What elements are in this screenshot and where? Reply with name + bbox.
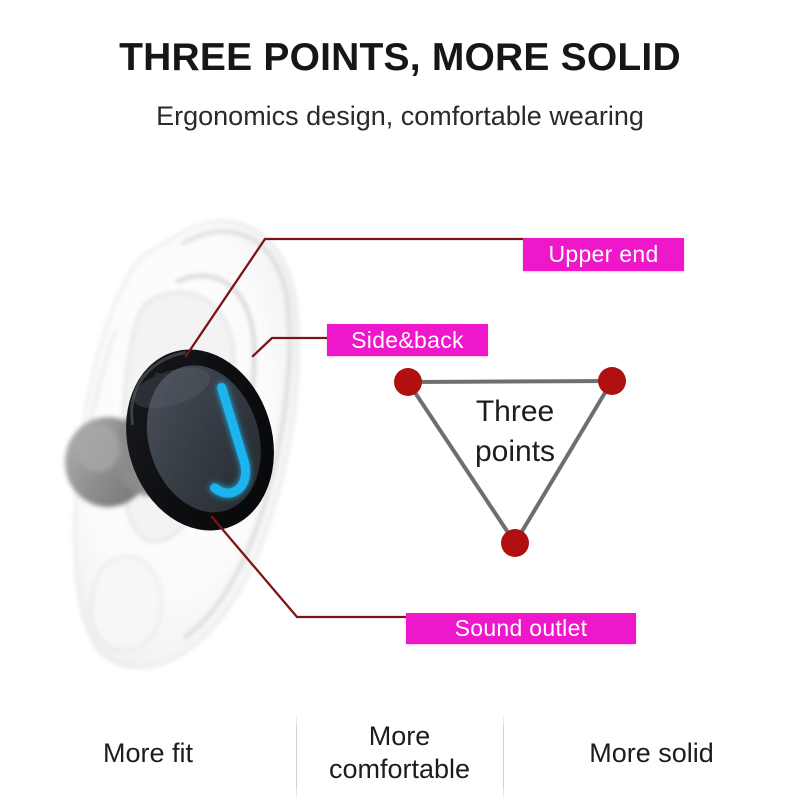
feature-more-comfortable-line2: comfortable — [329, 754, 470, 784]
feature-more-comfortable-line1: More — [369, 721, 431, 751]
illustration-svg — [0, 0, 800, 800]
feature-more-fit: More fit — [0, 706, 296, 800]
feature-more-solid-label: More solid — [589, 737, 714, 770]
triangle-label: Three points — [440, 392, 590, 472]
feature-more-comfortable: More comfortable — [296, 706, 503, 800]
bottom-divider-2 — [503, 712, 504, 800]
triangle-label-line2: points — [440, 432, 590, 472]
bottom-feature-bar: More fit More comfortable More solid — [0, 706, 800, 800]
triangle-point-bottom — [501, 529, 529, 557]
feature-more-comfortable-label: More comfortable — [329, 720, 470, 786]
infographic-page: THREE POINTS, MORE SOLID Ergonomics desi… — [0, 0, 800, 800]
callout-sound-outlet: Sound outlet — [406, 613, 636, 644]
callout-side-back: Side&back — [327, 324, 488, 356]
triangle-point-top-right — [598, 367, 626, 395]
feature-more-fit-label: More fit — [103, 737, 193, 770]
triangle-label-line1: Three — [440, 392, 590, 432]
feature-more-solid: More solid — [503, 706, 800, 800]
bottom-divider-1 — [296, 712, 297, 800]
callout-upper-end: Upper end — [523, 238, 684, 271]
illustration-stage: Three points Upper end Side&back Sound o… — [0, 0, 800, 800]
triangle-point-top-left — [394, 368, 422, 396]
triangle-edge-top — [408, 381, 612, 382]
